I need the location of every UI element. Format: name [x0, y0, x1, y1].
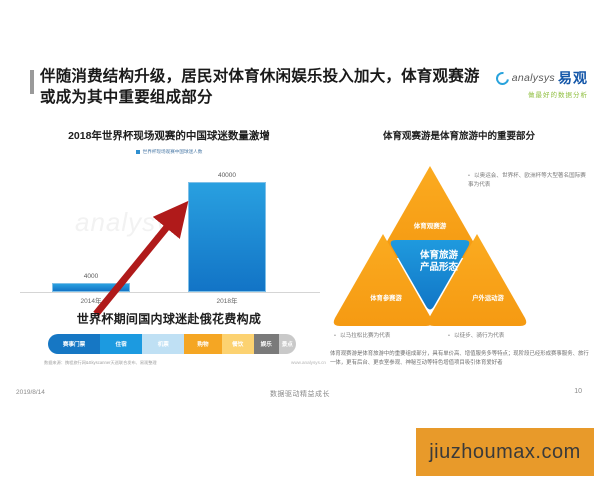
bullet-bottom-left: •以马拉松比赛为代表 — [334, 332, 446, 341]
watermark-badge: jiuzhoumax.com — [416, 428, 594, 476]
logo-row: analysys 易观 — [490, 68, 588, 88]
legend-label: 世界杯现场观赛中国球迷人数 — [143, 149, 203, 154]
brand-logo: analysys 易观 做最好的数据分析 — [490, 68, 588, 98]
bar-xlabel-2014: 2014年 — [52, 295, 130, 305]
segment-airfare[interactable]: 机票 — [142, 334, 184, 354]
bar-chart-legend: 世界杯现场观赛中国球迷人数 — [14, 149, 324, 155]
growth-arrow-icon — [26, 196, 326, 326]
page-number: 10 — [574, 388, 582, 395]
triangle-diagram-title: 体育观赛游是体育旅游中的重要部分 — [326, 128, 592, 142]
logo-en-text: analysys — [512, 72, 555, 84]
bar-chart-title: 2018年世界杯现场观赛的中国球迷数量激增 — [14, 128, 324, 143]
page-title: 伴随消费结构升级，居民对体育休闲娱乐投入加大，体育观赛游或成为其中重要组成部分 — [40, 66, 495, 108]
segment-lodging[interactable]: 住宿 — [100, 334, 142, 354]
segment-dining[interactable]: 餐饮 — [222, 334, 254, 354]
slide-header: 伴随消费结构升级，居民对体育休闲娱乐投入加大，体育观赛游或成为其中重要组成部分 … — [0, 62, 600, 112]
bar-chart-plot-area: analysys 4000 40000 — [20, 162, 320, 293]
right-content-column: 体育观赛游是体育旅游中的重要部分 analysys — [326, 128, 592, 390]
analysys-swirl-icon — [493, 69, 511, 87]
segment-shopping[interactable]: 购物 — [184, 334, 221, 354]
spend-chart-title: 世界杯期间国内球迷赴俄花费构成 — [14, 310, 324, 327]
footer-slogan: 数据驱动精益成长 — [0, 389, 600, 399]
logo-cn-text: 易观 — [558, 68, 588, 88]
left-content-column: 2018年世界杯现场观赛的中国球迷数量激增 世界杯现场观赛中国球迷人数 anal… — [14, 128, 324, 383]
bar-xlabel-2018: 2018年 — [188, 295, 266, 305]
spend-composition-bar: 赛事门票 住宿 机票 购物 餐饮 娱乐 景点 — [48, 334, 296, 354]
summary-paragraph: 体育观赛游是体育旅游中的重要组成部分，具有单价高、增值服务多等特点；现阶段已经形… — [330, 350, 590, 367]
bullet-bottom-left-text: 以马拉松比赛为代表 — [340, 333, 390, 339]
bullet-top: •以奥运会、世界杯、欧洲杯等大型著名国际赛事为代表 — [468, 172, 590, 189]
bullet-top-text: 以奥运会、世界杯、欧洲杯等大型著名国际赛事为代表 — [468, 173, 586, 188]
legend-swatch-icon — [136, 150, 140, 154]
segment-entertainment[interactable]: 娱乐 — [254, 334, 279, 354]
watermark-badge-text: jiuzhoumax.com — [429, 441, 581, 464]
title-accent-bar — [30, 70, 34, 94]
segment-ticket[interactable]: 赛事门票 — [48, 334, 100, 354]
bullet-bottom-right: •以徒步、骑行为代表 — [448, 332, 560, 341]
logo-tagline: 做最好的数据分析 — [490, 89, 588, 99]
segment-attractions[interactable]: 景点 — [279, 334, 296, 354]
slide-canvas: 伴随消费结构升级，居民对体育休闲娱乐投入加大，体育观赛游或成为其中重要组成部分 … — [0, 0, 600, 480]
source-url: www.analysys.cn — [236, 360, 326, 365]
bullet-bottom-right-text: 以徒步、骑行为代表 — [454, 333, 504, 339]
bar-value-2018: 40000 — [188, 172, 266, 179]
